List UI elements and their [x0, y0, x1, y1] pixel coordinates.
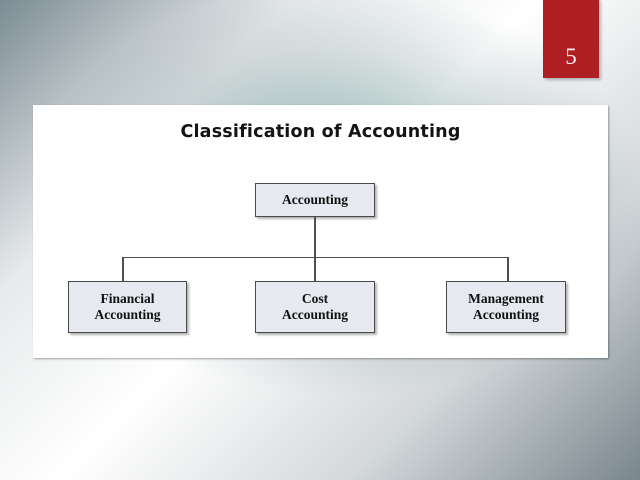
node-cost-line2: Accounting	[282, 307, 348, 322]
node-accounting-label: Accounting	[278, 192, 352, 208]
diagram-title: Classification of Accounting	[33, 122, 608, 142]
diagram-panel: Classification of Accounting Accounting …	[33, 105, 608, 358]
page-number-text: 5	[543, 45, 599, 68]
node-management-line2: Accounting	[473, 307, 539, 322]
slide-canvas: 5 Classification of Accounting Accountin…	[0, 0, 640, 480]
node-financial-accounting-label: Financial Accounting	[90, 291, 164, 323]
node-management-line1: Management	[468, 291, 544, 306]
node-management-accounting: Management Accounting	[446, 281, 566, 333]
node-financial-accounting: Financial Accounting	[68, 281, 187, 333]
node-financial-line2: Accounting	[94, 307, 160, 322]
node-financial-line1: Financial	[100, 291, 154, 306]
node-cost-accounting: Cost Accounting	[255, 281, 375, 333]
connector-drop-financial	[122, 257, 124, 281]
node-cost-accounting-label: Cost Accounting	[278, 291, 352, 323]
connector-drop-management	[507, 257, 509, 281]
node-cost-line1: Cost	[302, 291, 328, 306]
page-number-badge: 5	[543, 0, 599, 78]
node-accounting: Accounting	[255, 183, 375, 217]
node-management-accounting-label: Management Accounting	[464, 291, 548, 323]
connector-horizontal-bar	[122, 257, 509, 258]
connector-root-stem	[314, 217, 316, 281]
